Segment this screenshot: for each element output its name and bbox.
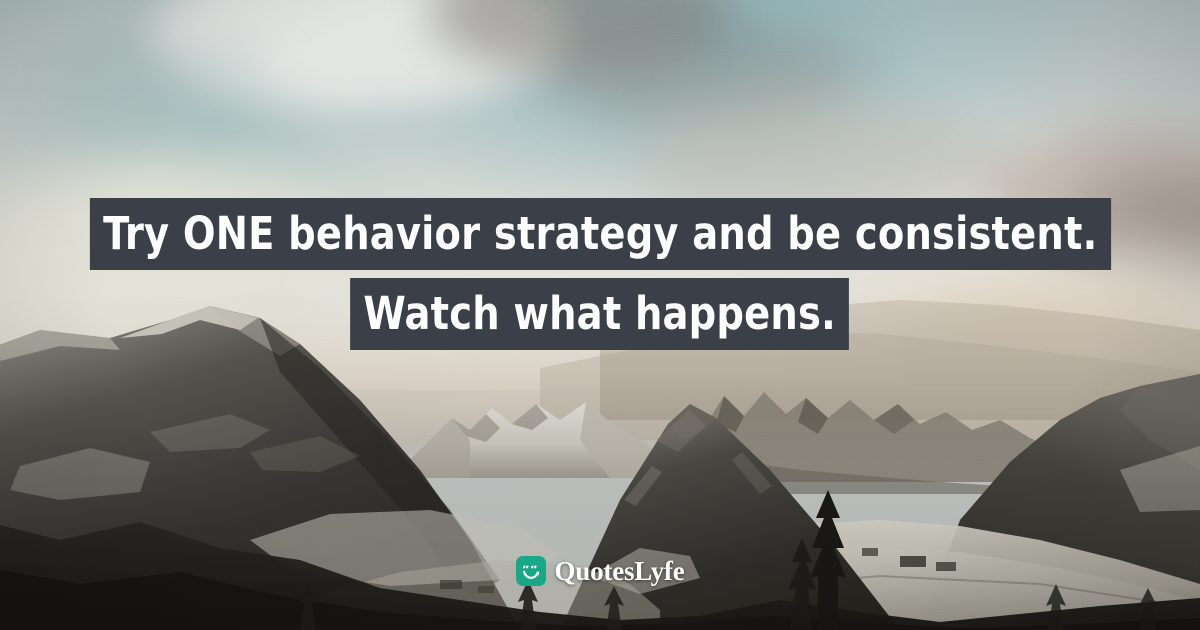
quote-text-block: Try ONE behavior strategy and be consist…	[0, 198, 1200, 350]
quote-line-1: Try ONE behavior strategy and be consist…	[90, 198, 1111, 270]
quote-smiley-icon	[516, 556, 546, 586]
brand-watermark[interactable]: QuotesLyfe	[0, 556, 1200, 586]
quote-card: Try ONE behavior strategy and be consist…	[0, 0, 1200, 630]
brand-name: QuotesLyfe	[555, 556, 685, 586]
quote-line-2: Watch what happens.	[350, 278, 849, 350]
